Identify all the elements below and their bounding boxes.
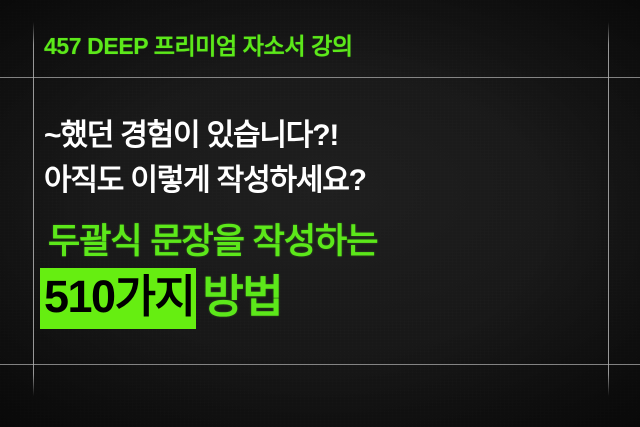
body-text-line-1: ~했던 경험이 있습니다?! xyxy=(44,110,338,154)
slide-header-title: 457 DEEP 프리미엄 자소서 강의 xyxy=(44,27,353,61)
body-text-line-2: 아직도 이렇게 작성하세요? xyxy=(44,155,366,199)
final-text-line: 510가지방법 xyxy=(40,268,282,329)
slide-content: 457 DEEP 프리미엄 자소서 강의 ~했던 경험이 있습니다?! 아직도 … xyxy=(0,0,640,427)
highlighted-count-text: 510가지 xyxy=(40,268,196,329)
final-text-suffix: 방법 xyxy=(196,268,282,329)
accent-text-line: 두괄식 문장을 작성하는 xyxy=(48,213,377,264)
slide-canvas: 457 DEEP 프리미엄 자소서 강의 ~했던 경험이 있습니다?! 아직도 … xyxy=(0,0,640,427)
